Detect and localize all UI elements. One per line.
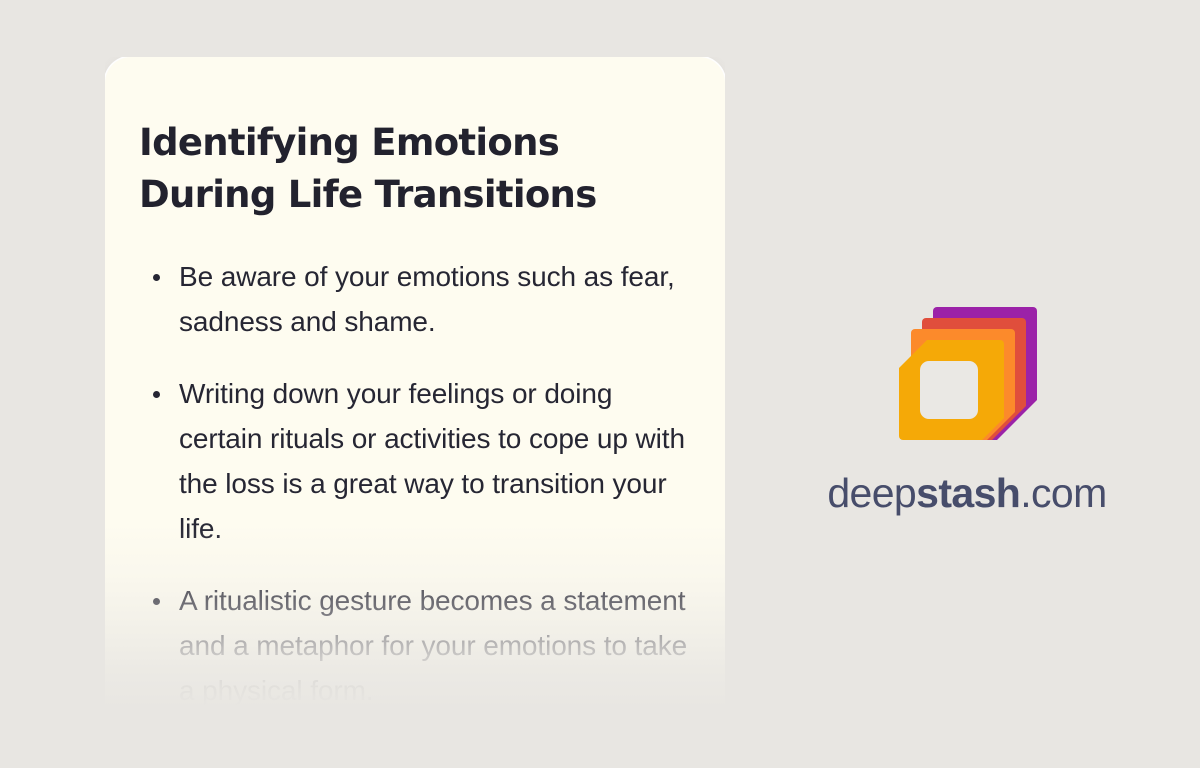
list-item: Be aware of your emotions such as fear, … — [139, 254, 691, 344]
content-card: Identifying Emotions During Life Transit… — [105, 57, 725, 710]
bullet-dot-icon — [153, 598, 160, 605]
wordmark-tld: .com — [1020, 470, 1106, 516]
bullet-dot-icon — [153, 274, 160, 281]
list-item-text: Writing down your feelings or doing cert… — [179, 378, 685, 544]
brand-wordmark: deepstash.com — [827, 470, 1106, 517]
deepstash-logo-icon — [893, 296, 1041, 444]
wordmark-stash: stash — [916, 470, 1020, 516]
list-item-text: A ritualistic gesture becomes a statemen… — [179, 585, 687, 706]
page-title: Identifying Emotions During Life Transit… — [139, 117, 659, 221]
bullet-dot-icon — [153, 391, 160, 398]
wordmark-deep: deep — [827, 470, 916, 516]
list-item-text: Be aware of your emotions such as fear, … — [179, 261, 675, 337]
idea-bullet-list: Be aware of your emotions such as fear, … — [139, 254, 691, 710]
card-surface: Identifying Emotions During Life Transit… — [105, 57, 725, 710]
list-item: Writing down your feelings or doing cert… — [139, 371, 691, 551]
brand-block: deepstash.com — [812, 296, 1122, 517]
list-item: A ritualistic gesture becomes a statemen… — [139, 578, 691, 710]
